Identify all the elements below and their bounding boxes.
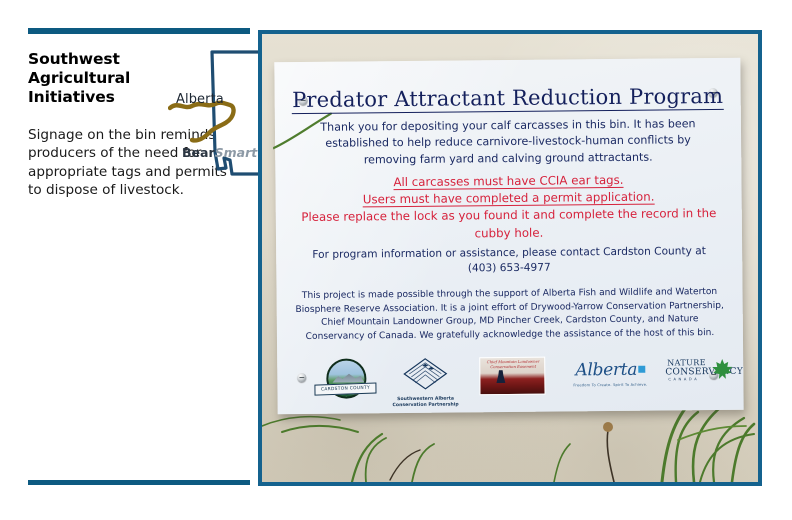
sponsor-logo-row: CARDSTON COUNTY (303, 353, 721, 409)
photo-card-text: Chief Mountain Landowner Conservation Ea… (480, 360, 545, 370)
photograph: Predator Attractant Reduction Program Th… (258, 30, 762, 486)
alberta-wordmark-block: Alberta (571, 360, 649, 385)
cardston-banner: CARDSTON COUNTY (314, 382, 376, 395)
rider-silhouette-icon (496, 370, 505, 383)
page-title-line-2: Agricultural (28, 69, 168, 88)
cardston-banner-text: CARDSTON COUNTY (315, 384, 375, 395)
maple-leaf-icon (711, 358, 733, 380)
page-title-line-3: Initiatives (28, 88, 168, 107)
alberta-wordmark-text: Alberta (575, 360, 637, 381)
sign-contact-block: For program information or assistance, p… (300, 244, 718, 278)
sacp-logo: Southwestern Alberta Conservation Partne… (389, 355, 462, 409)
left-info-panel: Southwest Agricultural Initiatives Signa… (28, 28, 250, 488)
sacp-diamond-icon (402, 357, 448, 391)
bearsmart-province-label: Alberta (176, 92, 224, 107)
sacp-caption: Southwestern Alberta Conservation Partne… (390, 396, 462, 409)
page-root: Southwest Agricultural Initiatives Signa… (0, 0, 792, 520)
alberta-government-logo: Alberta Freedom To Create. Spirit To Ach… (571, 354, 649, 388)
bearsmart-word-smart: Smart (215, 145, 258, 160)
nature-conservancy-logo: NATURE CONSERVANCY CANADA (665, 353, 731, 389)
divider-top (28, 28, 250, 34)
page-title: Southwest Agricultural Initiatives (28, 50, 168, 107)
bearsmart-wordmark: BearSmart (182, 145, 257, 160)
sign-title: Predator Attractant Reduction Program (275, 84, 741, 112)
photo-card-image: Chief Mountain Landowner Conservation Ea… (479, 357, 545, 396)
sacp-caption-line-2: Conservation Partnership (390, 403, 462, 410)
landowner-photo-placard: Chief Mountain Landowner Conservation Ea… (479, 355, 547, 396)
sign-title-text: Predator Attractant Reduction Program (292, 84, 723, 114)
sign-fine-print: This project is made possible through th… (291, 286, 730, 345)
alberta-square-icon (638, 366, 645, 373)
divider-bottom (28, 480, 250, 485)
bearsmart-word-bear: Bear (182, 145, 215, 160)
sign-panel: Predator Attractant Reduction Program Th… (274, 58, 743, 414)
sign-warning-block: All carcasses must have CCIA ear tags. U… (295, 171, 722, 244)
warning-line-3: Please replace the lock as you found it … (296, 205, 722, 243)
page-title-line-1: Southwest (28, 50, 168, 69)
sign-intro-text: Thank you for depositing your calf carca… (299, 116, 717, 169)
cardston-county-logo: CARDSTON COUNTY (315, 356, 377, 399)
